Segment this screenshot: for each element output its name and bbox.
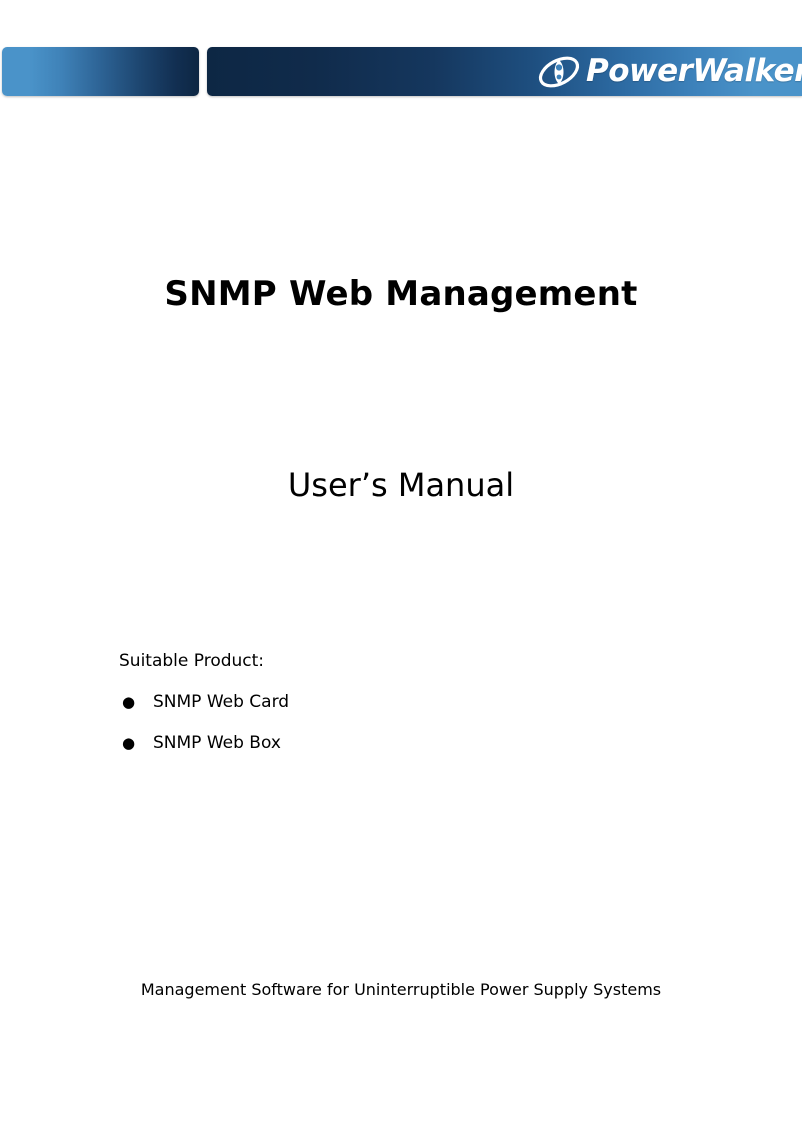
- footer-note: Management Software for Uninterruptible …: [0, 980, 802, 999]
- document-title: SNMP Web Management: [0, 274, 802, 314]
- product-name: SNMP Web Box: [153, 733, 281, 753]
- bullet-icon: ●: [119, 695, 153, 710]
- bullet-icon: ●: [119, 736, 153, 751]
- product-list: ● SNMP Web Card ● SNMP Web Box: [119, 692, 619, 753]
- suitable-product-section: Suitable Product: ● SNMP Web Card ● SNMP…: [119, 651, 619, 753]
- suitable-product-label: Suitable Product:: [119, 651, 619, 671]
- list-item: ● SNMP Web Card: [119, 692, 619, 712]
- brand-logo: PowerWalker: [536, 48, 802, 95]
- list-item: ● SNMP Web Box: [119, 733, 619, 753]
- powerwalker-ellipse-logo-icon: [536, 52, 582, 92]
- product-name: SNMP Web Card: [153, 692, 289, 712]
- banner-bar-left: [2, 47, 199, 96]
- document-subtitle: User’s Manual: [0, 466, 802, 504]
- brand-wordmark: PowerWalker: [586, 56, 802, 87]
